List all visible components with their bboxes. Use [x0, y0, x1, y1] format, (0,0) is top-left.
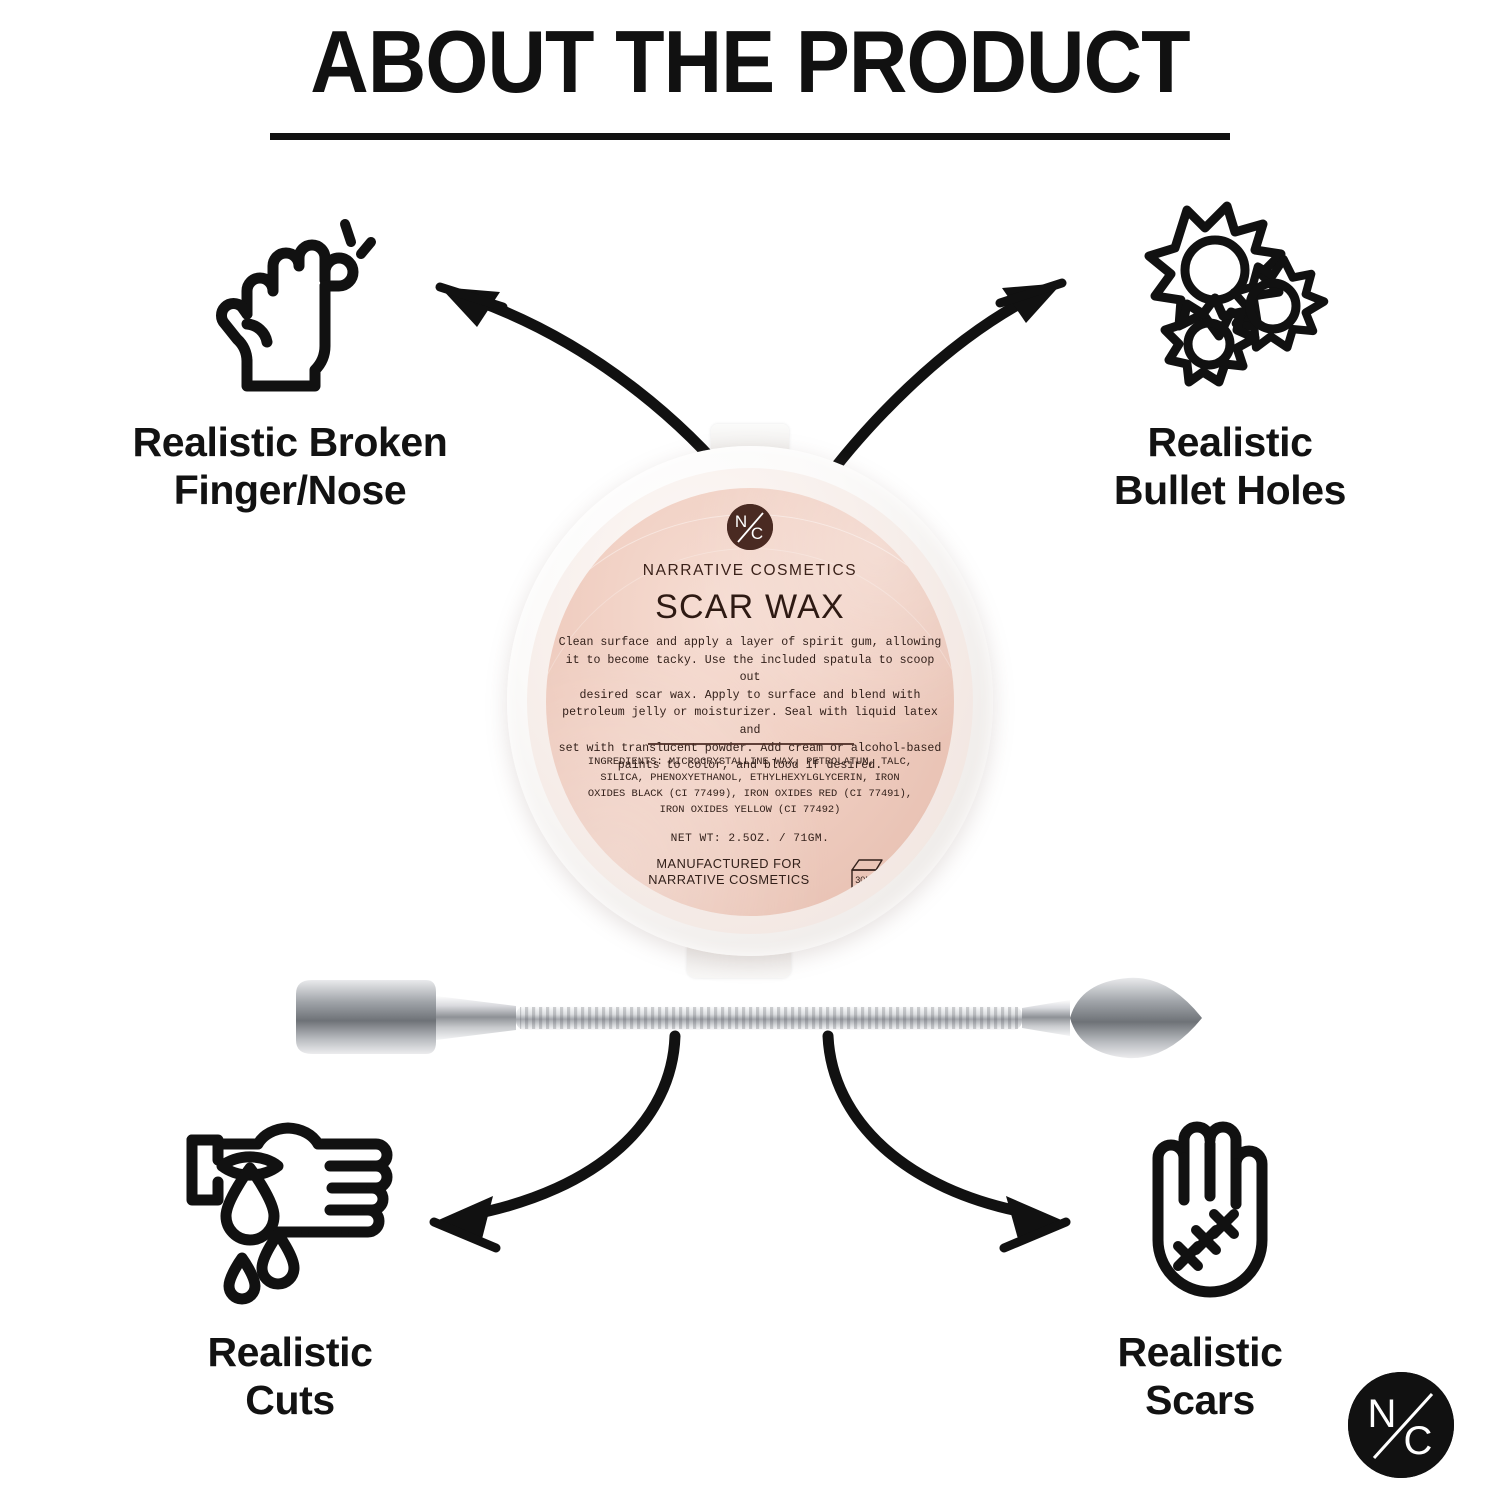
spatula-flat-blade: [296, 980, 436, 1054]
feature-label: Realistic Cuts: [60, 1328, 520, 1425]
product-label: N C NARRATIVE COSMETICS SCAR WAX Clean s…: [546, 488, 954, 916]
title-divider: [270, 133, 1230, 140]
feature-label: Realistic Scars: [1000, 1328, 1400, 1425]
svg-text:N: N: [1368, 1392, 1397, 1436]
infographic-canvas: ABOUT THE PRODUCT: [0, 0, 1500, 1500]
product-name: SCAR WAX: [546, 588, 954, 627]
net-weight: NET WT: 2.5OZ. / 71GM.: [546, 833, 954, 845]
brand-logo-badge: N C: [727, 504, 773, 550]
address-curved-text: COSTA MESA, CA 92627 · MADE IN PRC: [546, 880, 954, 916]
wax-surface: N C NARRATIVE COSMETICS SCAR WAX Clean s…: [546, 488, 954, 916]
nc-monogram-icon: N C: [1348, 1372, 1454, 1478]
feature-bullet-holes: Realistic Bullet Holes: [1000, 196, 1460, 515]
feature-cuts: Realistic Cuts: [60, 1118, 520, 1425]
page-title: ABOUT THE PRODUCT: [60, 16, 1440, 108]
nc-monogram-icon: N C: [727, 504, 773, 550]
product-ingredients: INGREDIENTS: MICROCRYSTALLINE WAX, PETRO…: [550, 754, 950, 819]
spatula-pointed-blade: [1070, 978, 1202, 1058]
label-divider: [648, 743, 854, 745]
feature-label: Realistic Bullet Holes: [1000, 418, 1460, 515]
bleeding-cut-hand-icon: [170, 1118, 410, 1308]
double-ended-spatula: [280, 962, 1220, 1072]
svg-text:C: C: [751, 524, 763, 543]
brand-name: NARRATIVE COSMETICS: [546, 562, 954, 580]
feature-broken-finger-nose: Realistic Broken Finger/Nose: [60, 196, 520, 515]
feature-label: Realistic Broken Finger/Nose: [60, 418, 520, 515]
spatula-neck-right: [1022, 1000, 1070, 1036]
spatula-neck-left: [436, 996, 516, 1040]
stitched-scar-hand-icon: [1110, 1118, 1290, 1308]
spatula-handle-ribbing: [520, 1007, 1018, 1029]
corner-brand-logo: N C: [1348, 1372, 1454, 1478]
feature-scars: Realistic Scars: [1000, 1118, 1400, 1425]
broken-finger-hand-icon: [195, 196, 385, 396]
bullet-holes-icon: [1125, 196, 1335, 396]
svg-text:C: C: [1404, 1419, 1433, 1463]
svg-text:N: N: [735, 512, 747, 531]
product-jar: N C NARRATIVE COSMETICS SCAR WAX Clean s…: [497, 424, 1003, 980]
